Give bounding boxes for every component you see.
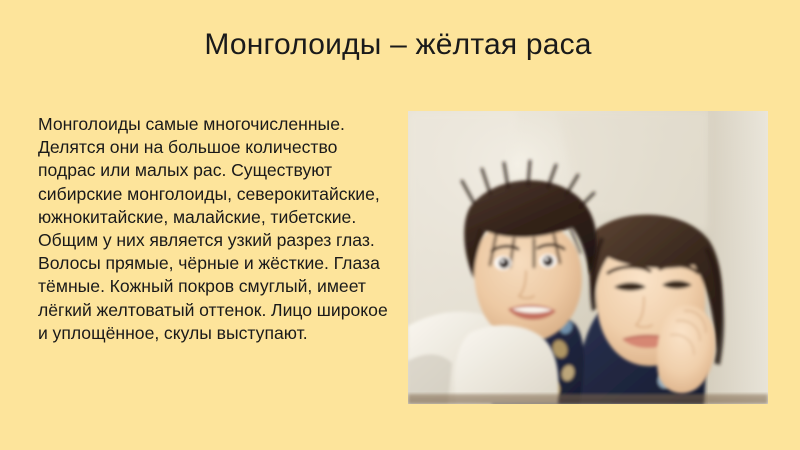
photo-two-asian-children: [408, 111, 768, 404]
body-paragraph: Монголоиды самые многочисленные. Делятся…: [38, 113, 396, 345]
photo-illustration: [408, 111, 768, 404]
page-title: Монголоиды – жёлтая раса: [40, 26, 756, 64]
presentation-slide: Монголоиды – жёлтая раса Монголоиды самы…: [0, 0, 800, 450]
